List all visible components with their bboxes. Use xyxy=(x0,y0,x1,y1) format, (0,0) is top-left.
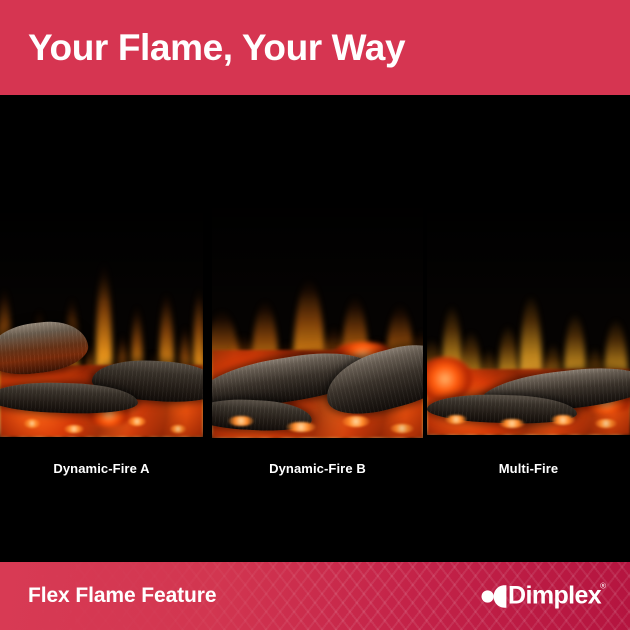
flame-panel-dynamic-fire-b[interactable] xyxy=(212,200,423,438)
dimplex-bowtie-mark xyxy=(481,584,507,608)
flame-label-multi-fire: Multi-Fire xyxy=(427,461,630,476)
registered-trademark-icon: ® xyxy=(600,582,606,590)
flex-flame-feature-slide: Your Flame, Your Way xyxy=(0,0,630,630)
brand-logo[interactable]: Dimplex ® xyxy=(481,584,608,609)
flame-label-dynamic-fire-a: Dynamic-Fire A xyxy=(0,461,203,476)
header-banner: Your Flame, Your Way xyxy=(0,0,630,95)
flame-label-dynamic-fire-b: Dynamic-Fire B xyxy=(212,461,423,476)
flame-gallery: Dynamic-Fire A Dynamic-Fire B Multi-Fire xyxy=(0,95,630,562)
footer-caption: Flex Flame Feature xyxy=(28,584,216,608)
brand-name: Dimplex xyxy=(508,584,601,609)
page-title: Your Flame, Your Way xyxy=(28,29,405,66)
flame-panel-multi-fire[interactable] xyxy=(427,205,630,435)
flame-panel-dynamic-fire-a[interactable] xyxy=(0,205,203,437)
footer-banner: Flex Flame Feature Dimplex ® xyxy=(0,562,630,630)
